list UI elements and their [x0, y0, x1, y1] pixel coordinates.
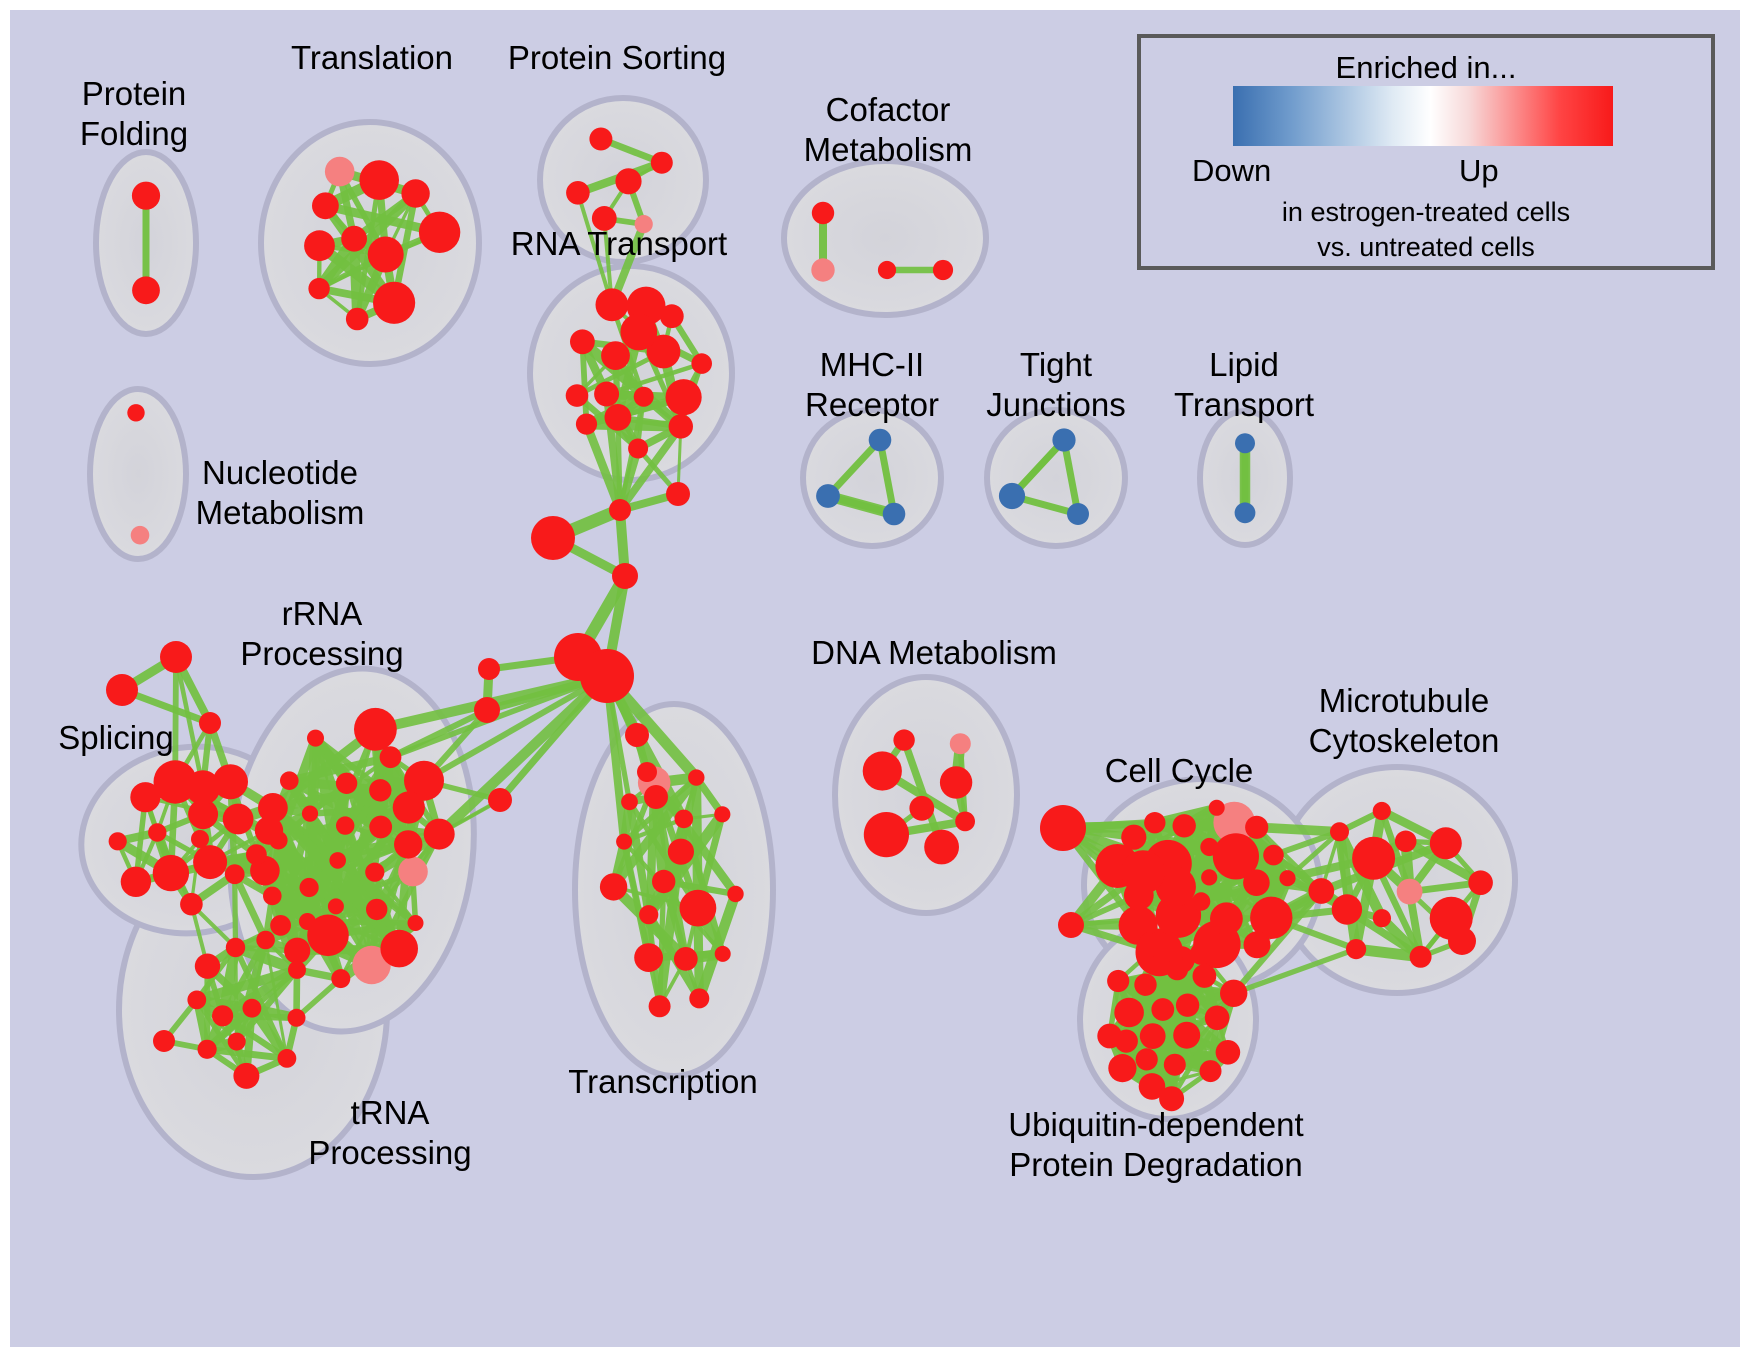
gene-set-node[interactable]	[621, 793, 638, 810]
gene-set-node[interactable]	[130, 782, 160, 812]
gene-set-node[interactable]	[816, 484, 840, 508]
gene-set-node[interactable]	[424, 819, 455, 850]
gene-set-node[interactable]	[612, 563, 638, 589]
gene-set-node[interactable]	[605, 404, 632, 431]
gene-set-node[interactable]	[394, 830, 422, 858]
gene-set-node[interactable]	[148, 823, 166, 841]
gene-set-node[interactable]	[594, 382, 619, 407]
gene-set-node[interactable]	[369, 816, 392, 839]
gene-set-node[interactable]	[308, 278, 329, 299]
gene-set-node[interactable]	[1114, 998, 1144, 1028]
gene-set-node[interactable]	[689, 988, 709, 1008]
gene-set-node[interactable]	[609, 499, 631, 521]
gene-set-node[interactable]	[393, 791, 425, 823]
gene-set-node[interactable]	[1346, 939, 1366, 959]
gene-set-node[interactable]	[812, 202, 834, 224]
cluster-label-cell-cycle: Cell Cycle	[1105, 752, 1254, 789]
legend-caption-line1: in estrogen-treated cells	[1282, 197, 1570, 227]
gene-set-node[interactable]	[106, 674, 138, 706]
gene-set-node[interactable]	[1210, 902, 1243, 935]
gene-set-node[interactable]	[714, 806, 730, 822]
gene-set-node[interactable]	[302, 806, 318, 822]
gene-set-node[interactable]	[312, 192, 339, 219]
gene-set-node[interactable]	[223, 804, 254, 835]
gene-set-node[interactable]	[660, 304, 684, 328]
gene-set-node[interactable]	[924, 830, 959, 865]
gene-set-node[interactable]	[596, 288, 629, 321]
gene-set-node[interactable]	[727, 886, 743, 902]
gene-set-node[interactable]	[1190, 942, 1213, 965]
cluster-hull-cofactor-metabolism	[784, 161, 986, 315]
gene-set-node[interactable]	[531, 516, 575, 560]
gene-set-node[interactable]	[1279, 870, 1295, 886]
gene-set-node[interactable]	[634, 387, 654, 407]
gene-set-node[interactable]	[1200, 1060, 1222, 1082]
gene-set-node[interactable]	[1200, 838, 1218, 856]
gene-set-node[interactable]	[1192, 892, 1210, 910]
cluster-hull-tight-junctions	[987, 410, 1125, 546]
gene-set-node[interactable]	[566, 384, 589, 407]
cluster-label-dna-metabolism: DNA Metabolism	[811, 634, 1057, 671]
gene-set-node[interactable]	[1216, 1040, 1241, 1065]
gene-set-node[interactable]	[109, 832, 127, 850]
gene-set-node[interactable]	[652, 870, 675, 893]
edge-bridge	[235, 874, 236, 947]
gene-set-node[interactable]	[304, 230, 335, 261]
gene-set-node[interactable]	[153, 855, 189, 891]
gene-set-node[interactable]	[601, 341, 630, 370]
gene-set-node[interactable]	[1140, 1023, 1166, 1049]
gene-set-node[interactable]	[246, 844, 267, 865]
gene-set-node[interactable]	[1308, 878, 1334, 904]
gene-set-node[interactable]	[160, 641, 192, 673]
gene-set-node[interactable]	[1468, 870, 1493, 895]
gene-set-node[interactable]	[186, 770, 221, 805]
gene-set-node[interactable]	[1139, 1073, 1166, 1100]
gene-set-node[interactable]	[380, 746, 402, 768]
gene-set-node[interactable]	[715, 946, 731, 962]
gene-set-node[interactable]	[1176, 994, 1199, 1017]
gene-set-node[interactable]	[1040, 805, 1086, 851]
gene-set-node[interactable]	[933, 260, 953, 280]
gene-set-node[interactable]	[893, 729, 914, 750]
gene-set-node[interactable]	[1397, 879, 1423, 905]
gene-set-node[interactable]	[329, 852, 346, 869]
gene-set-node[interactable]	[1235, 502, 1256, 523]
network-graph-svg: ProteinFoldingTranslationProtein Sorting…	[0, 0, 1750, 1360]
gene-set-node[interactable]	[1144, 812, 1165, 833]
gene-set-node[interactable]	[649, 995, 671, 1017]
gene-set-node[interactable]	[346, 308, 369, 331]
gene-set-node[interactable]	[225, 864, 245, 884]
gene-set-node[interactable]	[589, 128, 612, 151]
gene-set-node[interactable]	[666, 482, 690, 506]
edge-trna-processing	[223, 1016, 297, 1018]
gene-set-node[interactable]	[187, 991, 206, 1010]
gene-set-node[interactable]	[366, 899, 387, 920]
gene-set-node[interactable]	[212, 1005, 233, 1026]
gene-set-node[interactable]	[1058, 912, 1084, 938]
gene-set-node[interactable]	[675, 810, 694, 829]
gene-set-node[interactable]	[1173, 814, 1196, 837]
gene-set-node[interactable]	[478, 658, 500, 680]
gene-set-node[interactable]	[628, 439, 648, 459]
gene-set-node[interactable]	[666, 379, 702, 415]
gene-set-node[interactable]	[669, 414, 693, 438]
gene-set-node[interactable]	[228, 1033, 246, 1051]
gene-set-node[interactable]	[616, 834, 632, 850]
gene-set-node[interactable]	[284, 938, 310, 964]
gene-set-node[interactable]	[691, 353, 712, 374]
gene-set-node[interactable]	[195, 954, 220, 979]
gene-set-node[interactable]	[1173, 1022, 1200, 1049]
gene-set-node[interactable]	[668, 839, 694, 865]
gene-set-node[interactable]	[999, 483, 1025, 509]
gene-set-node[interactable]	[634, 943, 663, 972]
gene-set-node[interactable]	[233, 1063, 259, 1089]
gene-set-node[interactable]	[570, 329, 595, 354]
gene-set-node[interactable]	[341, 226, 367, 252]
gene-set-node[interactable]	[193, 845, 227, 879]
gene-set-node[interactable]	[1115, 1030, 1138, 1053]
legend-title: Enriched in...	[1336, 50, 1517, 85]
cluster-hull-mhc-ii-receptor	[803, 410, 941, 546]
gene-set-node[interactable]	[1121, 850, 1165, 894]
gene-set-node[interactable]	[369, 779, 391, 801]
gene-set-node[interactable]	[1067, 503, 1089, 525]
gene-set-node[interactable]	[180, 893, 203, 916]
gene-set-node[interactable]	[398, 857, 428, 887]
cluster-label-protein-sorting: Protein Sorting	[508, 39, 726, 76]
gene-set-node[interactable]	[1430, 827, 1462, 859]
gene-set-node[interactable]	[419, 212, 460, 253]
gene-set-node[interactable]	[153, 1030, 175, 1052]
gene-set-node[interactable]	[644, 785, 668, 809]
gene-set-node[interactable]	[198, 1040, 217, 1059]
gene-set-node[interactable]	[1235, 433, 1255, 453]
gene-set-node[interactable]	[328, 898, 344, 914]
gene-set-node[interactable]	[1410, 946, 1432, 968]
gene-set-node[interactable]	[1201, 869, 1217, 885]
gene-set-node[interactable]	[488, 788, 512, 812]
gene-set-node[interactable]	[368, 237, 404, 273]
gene-set-node[interactable]	[1166, 958, 1188, 980]
gene-set-node[interactable]	[1164, 1054, 1186, 1076]
gene-set-node[interactable]	[950, 733, 971, 754]
gene-set-node[interactable]	[625, 723, 649, 747]
gene-set-node[interactable]	[1052, 428, 1075, 451]
gene-set-node[interactable]	[1448, 927, 1476, 955]
gene-set-node[interactable]	[600, 873, 627, 900]
gene-set-node[interactable]	[688, 769, 704, 785]
gene-set-node[interactable]	[1193, 964, 1217, 988]
gene-set-node[interactable]	[256, 931, 275, 950]
gene-set-node[interactable]	[1205, 1006, 1230, 1031]
enrichment-map-figure: ProteinFoldingTranslationProtein Sorting…	[0, 0, 1750, 1360]
gene-set-node[interactable]	[680, 890, 717, 927]
gene-set-node[interactable]	[127, 404, 144, 421]
gene-set-node[interactable]	[1243, 869, 1270, 896]
gene-set-node[interactable]	[1121, 825, 1146, 850]
gene-set-node[interactable]	[121, 867, 151, 897]
gene-set-node[interactable]	[1244, 931, 1271, 958]
gene-set-node[interactable]	[263, 887, 282, 906]
gene-set-node[interactable]	[651, 152, 673, 174]
gene-set-node[interactable]	[869, 429, 892, 452]
gene-set-node[interactable]	[380, 930, 418, 968]
gene-set-node[interactable]	[199, 712, 221, 734]
gene-set-node[interactable]	[408, 915, 424, 931]
gene-set-node[interactable]	[940, 766, 972, 798]
gene-set-node[interactable]	[811, 258, 834, 281]
gene-set-node[interactable]	[280, 771, 299, 790]
gene-set-node[interactable]	[1352, 837, 1395, 880]
gene-set-node[interactable]	[909, 796, 934, 821]
gene-set-node[interactable]	[255, 816, 283, 844]
gene-set-node[interactable]	[373, 282, 415, 324]
gene-set-node[interactable]	[401, 179, 429, 207]
gene-set-node[interactable]	[278, 1049, 297, 1068]
gene-set-node[interactable]	[1373, 909, 1391, 927]
gene-set-node[interactable]	[288, 961, 306, 979]
cluster-label-translation: Translation	[291, 39, 453, 76]
gene-set-node[interactable]	[620, 314, 657, 351]
gene-set-node[interactable]	[1332, 894, 1362, 924]
gene-set-node[interactable]	[1209, 800, 1225, 816]
legend-low-label: Down	[1192, 153, 1271, 188]
edge-bridge	[1257, 827, 1340, 832]
gene-set-node[interactable]	[955, 812, 975, 832]
cluster-label-rna-transport: RNA Transport	[511, 225, 727, 262]
gene-set-node[interactable]	[359, 160, 399, 200]
cluster-label-splicing: Splicing	[58, 719, 174, 756]
gene-set-node[interactable]	[1151, 998, 1174, 1021]
gene-set-node[interactable]	[576, 414, 597, 435]
gene-set-node[interactable]	[1330, 822, 1349, 841]
gene-set-node[interactable]	[1373, 802, 1391, 820]
gene-set-node[interactable]	[1107, 970, 1129, 992]
gene-set-node[interactable]	[474, 697, 500, 723]
gene-set-node[interactable]	[300, 878, 319, 897]
legend: Enriched in... Down Up in estrogen-treat…	[1139, 36, 1713, 268]
gene-set-node[interactable]	[1146, 932, 1172, 958]
gene-set-node[interactable]	[878, 261, 896, 279]
gene-set-node[interactable]	[639, 905, 658, 924]
legend-color-bar	[1233, 86, 1613, 146]
gene-set-node[interactable]	[131, 526, 150, 545]
gene-set-node[interactable]	[226, 938, 245, 957]
gene-set-node[interactable]	[132, 276, 160, 304]
gene-set-node[interactable]	[132, 182, 160, 210]
gene-set-node[interactable]	[336, 816, 354, 834]
legend-caption-line2: vs. untreated cells	[1317, 232, 1535, 262]
gene-set-node[interactable]	[365, 863, 384, 882]
gene-set-node[interactable]	[354, 708, 397, 751]
gene-set-node[interactable]	[1263, 845, 1284, 866]
gene-set-node[interactable]	[1108, 1054, 1136, 1082]
gene-set-node[interactable]	[1245, 816, 1268, 839]
gene-set-node[interactable]	[288, 1009, 306, 1027]
gene-set-node[interactable]	[863, 751, 902, 790]
gene-set-node[interactable]	[615, 168, 641, 194]
gene-set-node[interactable]	[331, 969, 350, 988]
gene-set-node[interactable]	[307, 730, 324, 747]
gene-set-node[interactable]	[336, 773, 357, 794]
gene-set-node[interactable]	[580, 649, 634, 703]
gene-set-node[interactable]	[1134, 974, 1156, 996]
gene-set-node[interactable]	[299, 913, 316, 930]
gene-set-node[interactable]	[566, 181, 590, 205]
edge-transcription	[696, 778, 698, 909]
gene-set-node[interactable]	[1395, 831, 1417, 853]
gene-set-node[interactable]	[270, 915, 291, 936]
gene-set-node[interactable]	[191, 830, 209, 848]
gene-set-node[interactable]	[1136, 1048, 1158, 1070]
gene-set-node[interactable]	[674, 947, 698, 971]
legend-high-label: Up	[1459, 153, 1499, 188]
cluster-label-transcription: Transcription	[568, 1063, 758, 1100]
gene-set-node[interactable]	[325, 157, 355, 187]
gene-set-node[interactable]	[864, 812, 909, 857]
gene-set-node[interactable]	[883, 503, 906, 526]
gene-set-node[interactable]	[1220, 980, 1247, 1007]
gene-set-node[interactable]	[243, 999, 262, 1018]
gene-set-node[interactable]	[637, 762, 657, 782]
